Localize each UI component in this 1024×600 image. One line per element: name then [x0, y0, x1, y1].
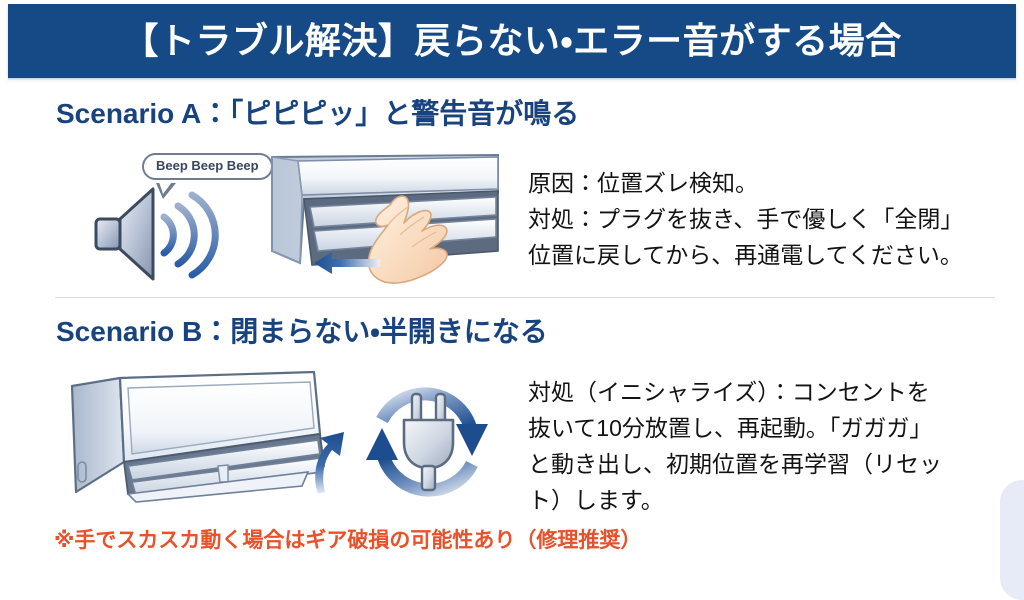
- circular-reset-arrows-icon: [352, 372, 502, 512]
- air-conditioner-wall-unit-icon: [62, 370, 342, 510]
- air-conditioner-closeup-icon: [270, 155, 500, 290]
- page-title: 【トラブル解決】戻らない・エラー音がする場合: [122, 23, 901, 59]
- scenario-b-line-1: 対処（イニシャライズ）：コンセントを: [528, 374, 1018, 410]
- scenario-a-illustration: Beep Beep Beep: [90, 145, 510, 295]
- scenario-b-body-text: 対処（イニシャライズ）：コンセントを 抜いて10分放置し、再起動。「ガガガ」 と…: [528, 374, 1018, 518]
- scenario-a-heading: Scenario A：「ピピピッ」と警告音が鳴る: [56, 92, 579, 132]
- speaker-icon: [90, 183, 230, 293]
- scenario-b-line-3: と動き出し、初期位置を再学習（リセッ: [528, 446, 1018, 482]
- page-root: 【トラブル解決】戻らない・エラー音がする場合 Scenario A：「ピピピッ」…: [0, 0, 1024, 558]
- banner-underline: [8, 78, 1016, 81]
- scenario-a-line-2: 対処：プラグを抜き、手で優しく「全閉」: [528, 201, 1008, 237]
- scenario-a-body-text: 原因：位置ズレ検知。 対処：プラグを抜き、手で優しく「全閉」 位置に戻してから、…: [528, 165, 1008, 273]
- sound-waves-icon: [164, 195, 215, 275]
- scenario-b-illustration: [62, 370, 522, 510]
- scenario-a-line-1: 原因：位置ズレ検知。: [528, 165, 1008, 201]
- corner-decoration: [1000, 480, 1024, 600]
- scenario-b-line-2: 抜いて10分放置し、再起動。「ガガガ」: [528, 410, 1018, 446]
- beep-speech-bubble: Beep Beep Beep: [142, 153, 273, 180]
- scenario-b-line-4: ト）します。: [528, 482, 1018, 518]
- section-divider: [55, 297, 995, 298]
- scenario-b-heading: Scenario B：閉まらない・半開きになる: [56, 310, 548, 350]
- scenario-a-line-3: 位置に戻してから、再通電してください。: [528, 237, 1008, 273]
- header-banner: 【トラブル解決】戻らない・エラー音がする場合: [8, 4, 1016, 78]
- gear-damage-warning: ※手でスカスカ動く場合はギア破損の可能性あり（修理推奨）: [54, 524, 641, 554]
- power-plug-icon: [404, 394, 453, 490]
